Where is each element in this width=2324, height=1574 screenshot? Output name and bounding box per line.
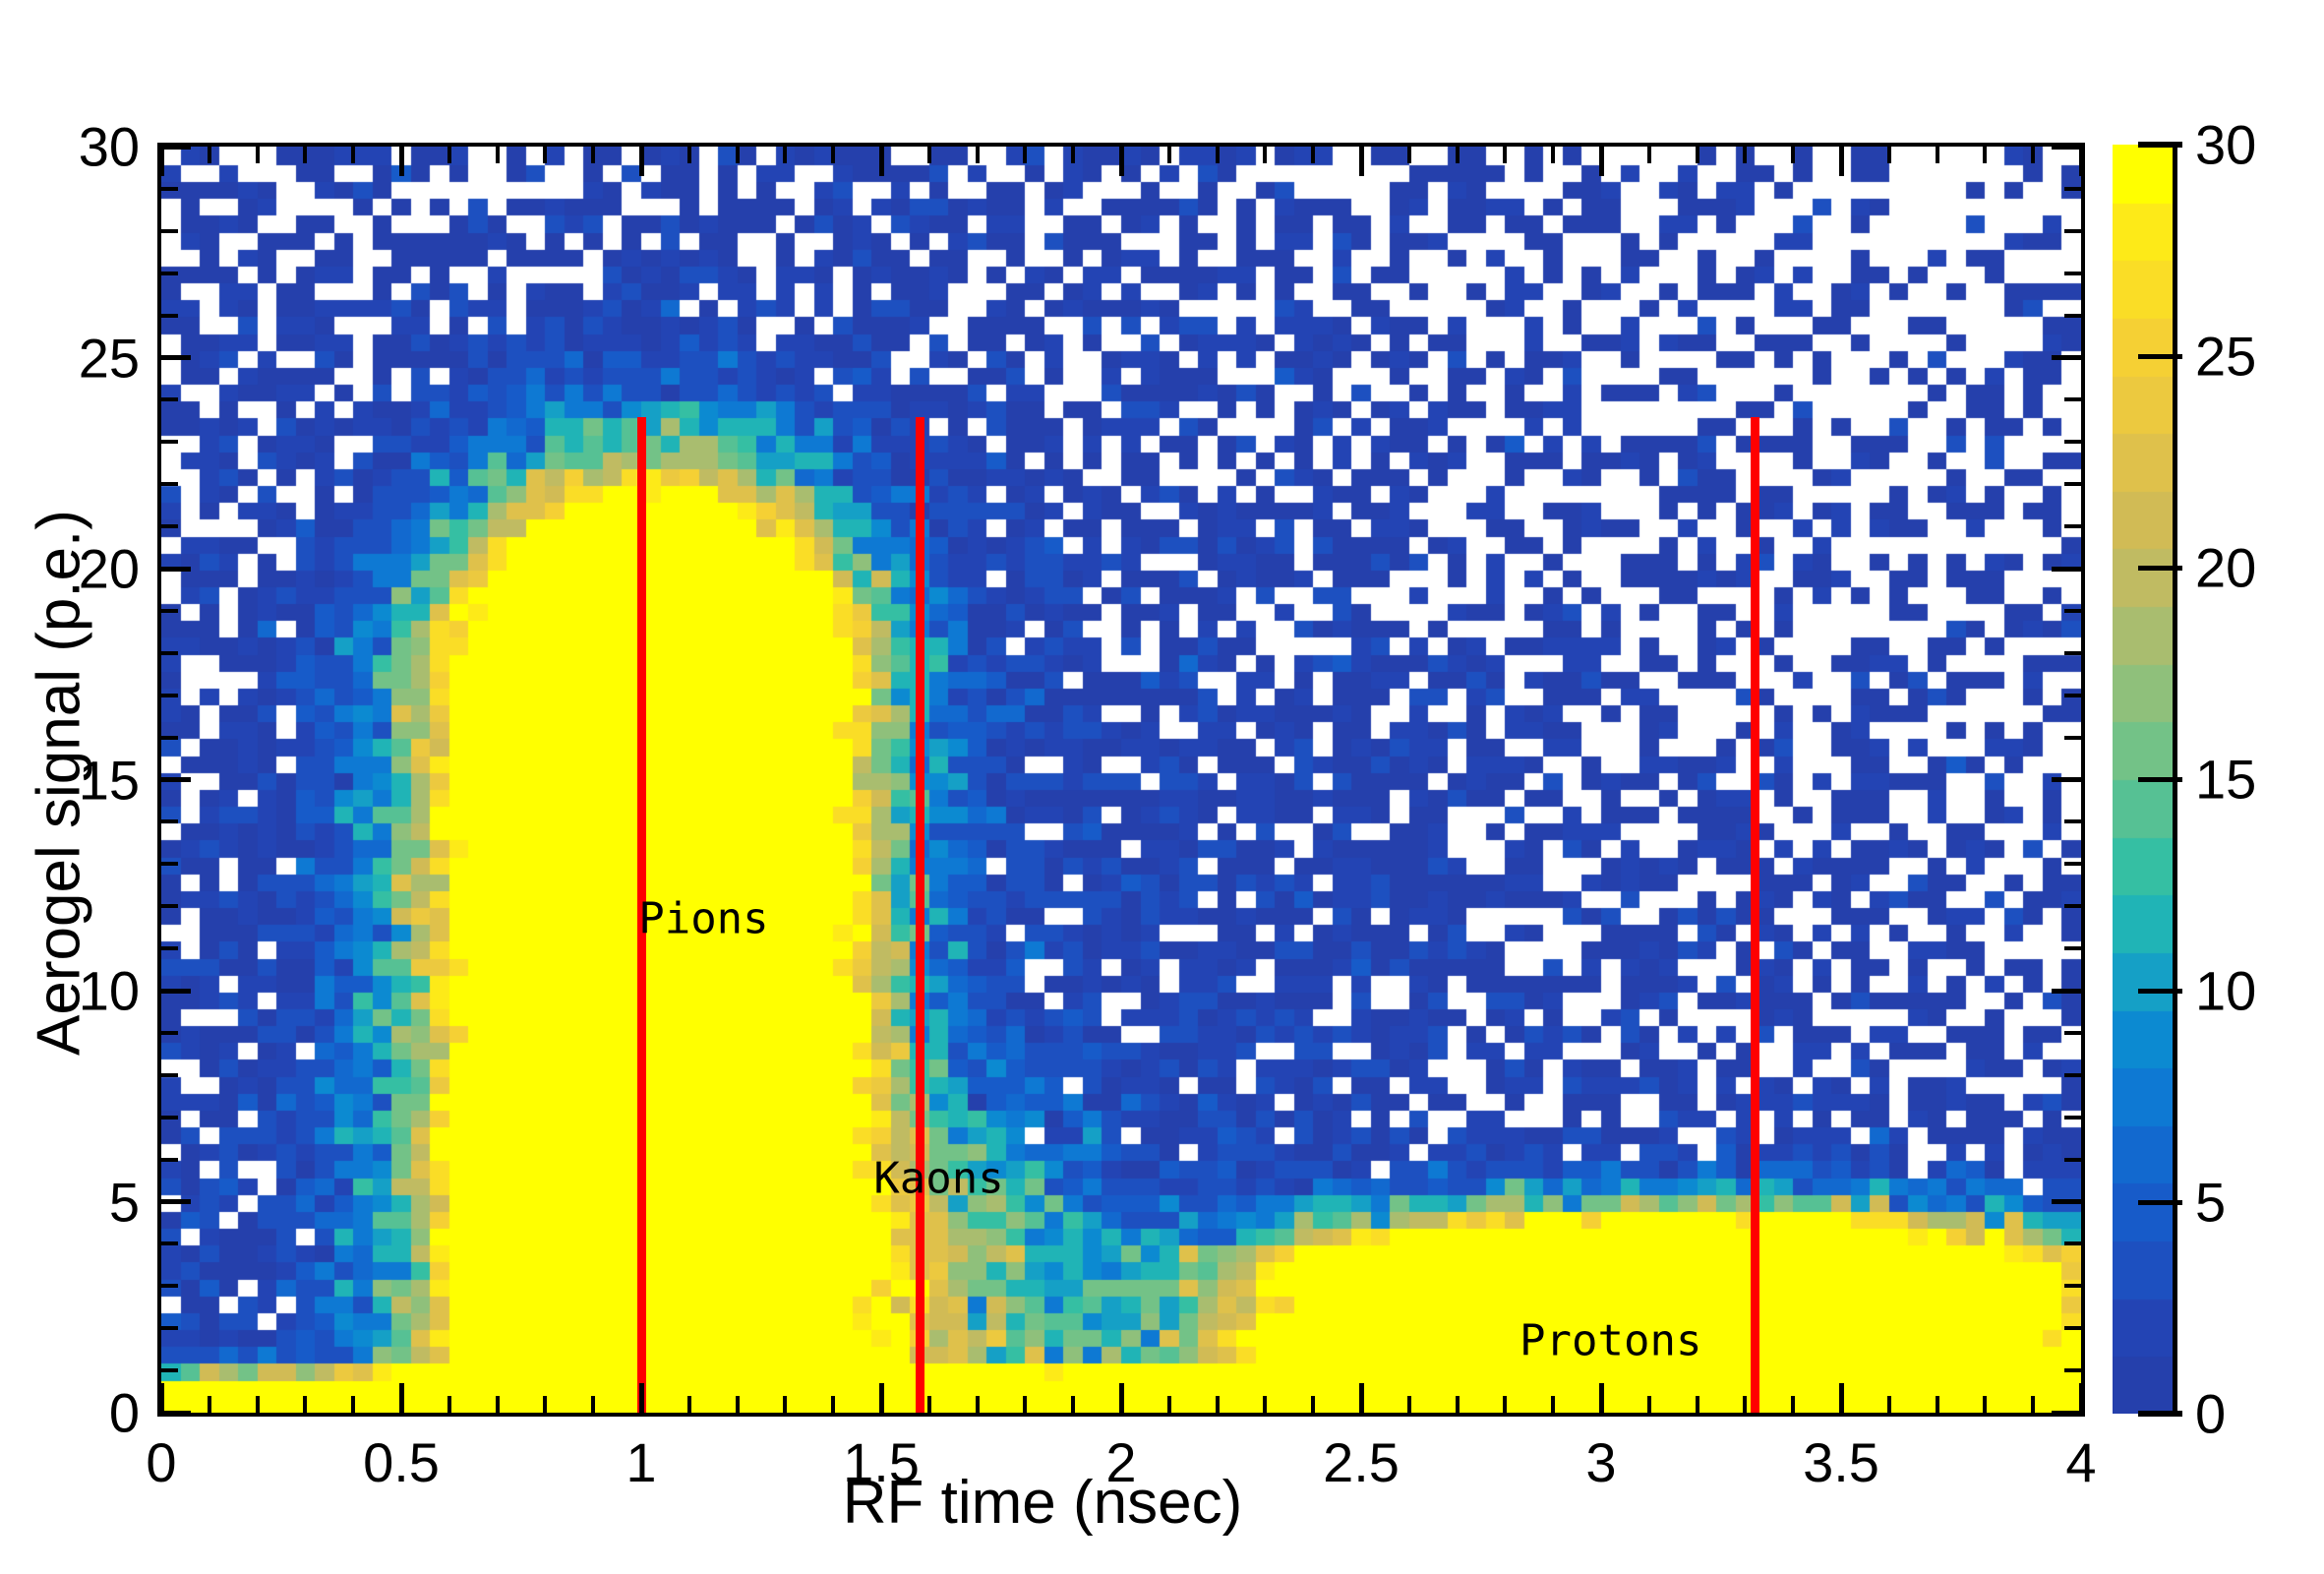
y-tick-left bbox=[161, 651, 178, 655]
x-tick-top bbox=[351, 147, 355, 163]
y-tick-left bbox=[161, 567, 191, 572]
y-tick-left bbox=[161, 777, 191, 782]
x-tick-top bbox=[399, 147, 404, 176]
x-tick-top bbox=[1407, 147, 1411, 163]
x-axis-title: RF time (nsec) bbox=[0, 1468, 2085, 1538]
y-tick-left bbox=[161, 1073, 178, 1077]
y-tick-right bbox=[2064, 524, 2081, 528]
y-tick-left bbox=[161, 524, 178, 528]
colorbar-tick-label: 10 bbox=[2195, 959, 2256, 1023]
x-tick-bottom bbox=[1456, 1396, 1460, 1413]
colorbar-top-cap bbox=[2138, 142, 2182, 148]
x-tick-bottom bbox=[927, 1396, 931, 1413]
x-tick-bottom bbox=[639, 1383, 644, 1413]
y-tick-left bbox=[161, 1116, 178, 1120]
y-tick-right bbox=[2052, 567, 2081, 572]
y-tick-left bbox=[161, 145, 191, 150]
colorbar-tick-label: 30 bbox=[2195, 113, 2256, 177]
x-tick-bottom bbox=[256, 1396, 260, 1413]
y-tick-left bbox=[161, 1241, 178, 1245]
x-tick-top bbox=[1263, 147, 1267, 163]
y-tick-right bbox=[2064, 819, 2081, 823]
y-tick-left bbox=[161, 819, 178, 823]
x-tick-bottom bbox=[736, 1396, 740, 1413]
colorbar-tick-label: 25 bbox=[2195, 325, 2256, 389]
x-tick-top bbox=[927, 147, 931, 163]
y-tick-right bbox=[2064, 1116, 2081, 1120]
x-tick-top bbox=[1216, 147, 1220, 163]
y-tick-left bbox=[161, 694, 178, 697]
y-tick-right bbox=[2052, 1411, 2081, 1416]
colorbar-tick-label: 5 bbox=[2195, 1171, 2226, 1235]
annotation-protons: Protons bbox=[1520, 1316, 1701, 1366]
y-axis-title: Aerogel signal (p.e.) bbox=[25, 242, 94, 1324]
annotation-kaons: Kaons bbox=[873, 1153, 1003, 1203]
y-tick-right bbox=[2052, 355, 2081, 360]
x-tick-bottom bbox=[351, 1396, 355, 1413]
x-tick-top bbox=[1696, 147, 1699, 163]
x-tick-top bbox=[1311, 147, 1315, 163]
y-tick-left bbox=[161, 1368, 178, 1372]
y-tick-left bbox=[161, 1158, 178, 1162]
y-tick-left bbox=[161, 187, 178, 191]
x-tick-bottom bbox=[543, 1396, 547, 1413]
y-tick-right bbox=[2064, 651, 2081, 655]
y-tick-right bbox=[2064, 609, 2081, 613]
y-tick-right bbox=[2064, 1368, 2081, 1372]
x-tick-top bbox=[2031, 147, 2035, 163]
x-tick-top bbox=[1071, 147, 1075, 163]
y-tick-left bbox=[161, 1199, 191, 1204]
x-tick-top bbox=[159, 147, 164, 176]
x-tick-bottom bbox=[1887, 1396, 1891, 1413]
y-tick-left bbox=[161, 1411, 191, 1416]
y-tick-left bbox=[161, 1031, 178, 1035]
x-tick-top bbox=[1647, 147, 1651, 163]
x-tick-bottom bbox=[1647, 1396, 1651, 1413]
figure-root: PionsKaonsProtons 00.511.522.533.54 0510… bbox=[0, 0, 2324, 1574]
x-tick-bottom bbox=[831, 1396, 835, 1413]
y-tick-left bbox=[161, 355, 191, 360]
x-tick-top bbox=[303, 147, 307, 163]
y-tick-right bbox=[2064, 904, 2081, 908]
x-tick-bottom bbox=[159, 1383, 164, 1413]
y-tick-right bbox=[2064, 1284, 2081, 1288]
x-tick-bottom bbox=[303, 1396, 307, 1413]
x-tick-bottom bbox=[783, 1396, 787, 1413]
x-tick-bottom bbox=[1503, 1396, 1507, 1413]
y-tick-right bbox=[2064, 482, 2081, 486]
x-tick-bottom bbox=[1263, 1396, 1267, 1413]
colorbar-tick bbox=[2138, 1200, 2182, 1205]
colorbar-tick bbox=[2138, 777, 2182, 782]
x-tick-top bbox=[1119, 147, 1124, 176]
y-tick-label: 30 bbox=[0, 115, 140, 179]
y-tick-left bbox=[161, 736, 178, 740]
x-tick-top bbox=[1167, 147, 1171, 163]
y-tick-right bbox=[2052, 989, 2081, 994]
x-tick-bottom bbox=[1743, 1396, 1747, 1413]
x-tick-bottom bbox=[1696, 1396, 1699, 1413]
colorbar-tick bbox=[2138, 354, 2182, 359]
x-tick-top bbox=[1456, 147, 1460, 163]
x-tick-bottom bbox=[687, 1396, 691, 1413]
colorbar-bottom-cap bbox=[2138, 1411, 2182, 1417]
y-tick-right bbox=[2064, 440, 2081, 444]
x-tick-top bbox=[736, 147, 740, 163]
x-tick-top bbox=[1023, 147, 1027, 163]
x-tick-bottom bbox=[1023, 1396, 1027, 1413]
y-tick-left bbox=[161, 1284, 178, 1288]
x-tick-top bbox=[543, 147, 547, 163]
x-tick-top bbox=[447, 147, 451, 163]
plot-area: PionsKaonsProtons bbox=[157, 143, 2085, 1417]
colorbar-tick-label: 15 bbox=[2195, 748, 2256, 812]
x-tick-bottom bbox=[2031, 1396, 2035, 1413]
y-tick-right bbox=[2064, 862, 2081, 866]
y-tick-right bbox=[2064, 397, 2081, 401]
x-tick-bottom bbox=[1216, 1396, 1220, 1413]
x-tick-bottom bbox=[2079, 1383, 2084, 1413]
x-tick-top bbox=[1599, 147, 1604, 176]
x-tick-top bbox=[1839, 147, 1844, 176]
x-tick-top bbox=[1551, 147, 1555, 163]
x-tick-top bbox=[1936, 147, 1939, 163]
x-tick-bottom bbox=[591, 1396, 595, 1413]
y-tick-right bbox=[2064, 736, 2081, 740]
x-tick-bottom bbox=[1599, 1383, 1604, 1413]
x-tick-bottom bbox=[208, 1396, 211, 1413]
x-tick-top bbox=[2079, 147, 2084, 176]
x-tick-top bbox=[831, 147, 835, 163]
x-tick-bottom bbox=[1119, 1383, 1124, 1413]
y-tick-right bbox=[2064, 1073, 2081, 1077]
y-tick-left bbox=[161, 1326, 178, 1330]
y-tick-right bbox=[2064, 1158, 2081, 1162]
y-tick-left bbox=[161, 482, 178, 486]
x-tick-top bbox=[783, 147, 787, 163]
x-tick-bottom bbox=[399, 1383, 404, 1413]
y-tick-left bbox=[161, 904, 178, 908]
heatmap-canvas bbox=[161, 147, 2081, 1413]
y-tick-right bbox=[2064, 1326, 2081, 1330]
y-tick-right bbox=[2064, 694, 2081, 697]
y-tick-right bbox=[2064, 314, 2081, 318]
x-tick-bottom bbox=[1983, 1396, 1987, 1413]
y-tick-left bbox=[161, 862, 178, 866]
y-tick-right bbox=[2064, 187, 2081, 191]
y-tick-left bbox=[161, 440, 178, 444]
x-tick-top bbox=[879, 147, 884, 176]
proton-cut-line bbox=[1751, 417, 1759, 1413]
y-tick-right bbox=[2064, 946, 2081, 950]
colorbar-tick-label: 0 bbox=[2195, 1382, 2226, 1446]
y-tick-right bbox=[2052, 777, 2081, 782]
x-tick-top bbox=[976, 147, 980, 163]
colorbar-tick bbox=[2138, 989, 2182, 994]
x-tick-bottom bbox=[1359, 1383, 1364, 1413]
x-tick-top bbox=[1503, 147, 1507, 163]
y-tick-left bbox=[161, 272, 178, 275]
annotation-pions: Pions bbox=[638, 894, 768, 944]
y-tick-left bbox=[161, 609, 178, 613]
x-tick-top bbox=[1887, 147, 1891, 163]
y-tick-right bbox=[2064, 229, 2081, 233]
y-tick-left bbox=[161, 946, 178, 950]
y-tick-left bbox=[161, 397, 178, 401]
y-tick-left bbox=[161, 229, 178, 233]
y-tick-left bbox=[161, 989, 191, 994]
kaon-cut-line bbox=[916, 417, 924, 1413]
y-tick-label: 0 bbox=[0, 1381, 140, 1445]
x-tick-top bbox=[687, 147, 691, 163]
x-tick-bottom bbox=[879, 1383, 884, 1413]
x-tick-top bbox=[208, 147, 211, 163]
x-tick-bottom bbox=[447, 1396, 451, 1413]
y-tick-left bbox=[161, 314, 178, 318]
x-tick-bottom bbox=[1311, 1396, 1315, 1413]
x-tick-bottom bbox=[1791, 1396, 1795, 1413]
colorbar bbox=[2113, 145, 2177, 1414]
x-tick-bottom bbox=[1407, 1396, 1411, 1413]
x-tick-bottom bbox=[1071, 1396, 1075, 1413]
y-tick-right bbox=[2064, 1031, 2081, 1035]
x-tick-bottom bbox=[1551, 1396, 1555, 1413]
y-tick-right bbox=[2052, 145, 2081, 150]
y-tick-right bbox=[2052, 1199, 2081, 1204]
x-tick-top bbox=[256, 147, 260, 163]
x-tick-top bbox=[1983, 147, 1987, 163]
colorbar-tick-label: 20 bbox=[2195, 536, 2256, 600]
x-tick-top bbox=[496, 147, 500, 163]
x-tick-top bbox=[1791, 147, 1795, 163]
x-tick-top bbox=[591, 147, 595, 163]
y-tick-right bbox=[2064, 272, 2081, 275]
x-tick-top bbox=[1359, 147, 1364, 176]
x-tick-bottom bbox=[496, 1396, 500, 1413]
x-tick-bottom bbox=[1167, 1396, 1171, 1413]
x-tick-top bbox=[639, 147, 644, 176]
x-tick-top bbox=[1743, 147, 1747, 163]
x-tick-bottom bbox=[976, 1396, 980, 1413]
x-tick-bottom bbox=[1936, 1396, 1939, 1413]
y-tick-right bbox=[2064, 1241, 2081, 1245]
x-tick-bottom bbox=[1839, 1383, 1844, 1413]
colorbar-tick bbox=[2138, 566, 2182, 571]
